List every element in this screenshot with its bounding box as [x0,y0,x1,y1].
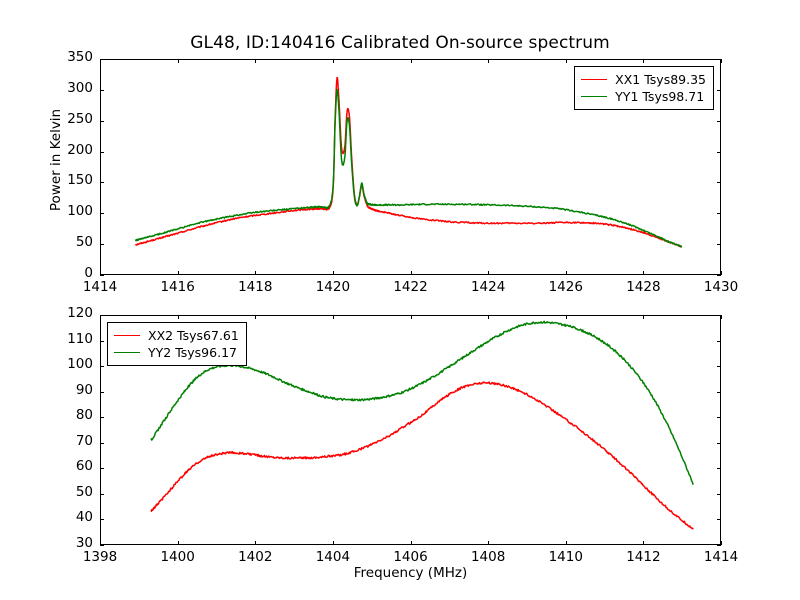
y-tick-mark [717,275,721,276]
x-tick-mark [643,541,644,545]
x-tick-mark [566,271,567,275]
y-tick-label: 250 [48,113,93,127]
y-tick-mark [100,213,104,214]
x-tick-mark [178,271,179,275]
x-tick-mark [333,59,334,63]
y-tick-mark [100,366,104,367]
y-tick-label: 150 [48,174,93,188]
legend-swatch-yy1 [581,96,607,97]
x-tick-mark [488,59,489,63]
y-tick-label: 200 [48,144,93,158]
figure-title: GL48, ID:140416 Calibrated On-source spe… [0,33,800,53]
legend-entry: YY1 Tsys98.71 [581,88,706,105]
x-tick-mark [721,271,722,275]
legend-swatch-yy2 [114,352,140,353]
y-tick-mark [717,213,721,214]
y-tick-mark [100,392,104,393]
y-tick-mark [100,443,104,444]
x-tick-label: 1426 [536,281,596,295]
x-tick-mark [178,541,179,545]
y-tick-mark [717,244,721,245]
legend-entry: YY2 Tsys96.17 [114,344,239,361]
x-tick-label: 1398 [70,551,130,565]
x-tick-label: 1402 [225,551,285,565]
y-tick-mark [100,341,104,342]
y-tick-mark [717,366,721,367]
y-tick-mark [100,244,104,245]
x-tick-label: 1424 [458,281,518,295]
y-tick-mark [100,519,104,520]
x-tick-mark [178,59,179,63]
x-tick-mark [566,315,567,319]
x-tick-mark [255,59,256,63]
x-tick-mark [411,315,412,319]
y-tick-label: 300 [48,82,93,96]
top-panel-legend: XX1 Tsys89.35 YY1 Tsys98.71 [574,66,714,110]
x-tick-mark [333,541,334,545]
legend-swatch-xx1 [581,79,607,80]
x-tick-mark [643,271,644,275]
y-tick-mark [717,468,721,469]
x-tick-mark [721,59,722,63]
y-tick-mark [717,494,721,495]
y-tick-mark [717,152,721,153]
y-tick-mark [717,341,721,342]
x-tick-mark [411,59,412,63]
x-tick-label: 1422 [381,281,441,295]
x-tick-mark [488,271,489,275]
x-tick-mark [333,271,334,275]
y-tick-mark [717,121,721,122]
x-tick-mark [100,315,101,319]
y-tick-mark [100,90,104,91]
y-tick-mark [717,443,721,444]
x-tick-mark [255,271,256,275]
y-tick-mark [717,519,721,520]
y-tick-label: 110 [48,333,93,347]
x-tick-mark [566,541,567,545]
y-tick-label: 120 [48,307,93,321]
legend-label-yy2: YY2 Tsys96.17 [148,345,237,360]
x-tick-label: 1412 [613,551,673,565]
bottom-panel-axes: XX2 Tsys67.61 YY2 Tsys96.17 [100,315,721,545]
y-tick-label: 50 [48,236,93,250]
x-tick-label: 1414 [70,281,130,295]
x-tick-label: 1418 [225,281,285,295]
x-tick-mark [721,315,722,319]
legend-entry: XX1 Tsys89.35 [581,71,706,88]
x-tick-mark [488,541,489,545]
x-tick-mark [100,541,101,545]
x-tick-label: 1420 [303,281,363,295]
trace-xx2 [151,382,693,529]
y-tick-mark [717,182,721,183]
bottom-panel-legend: XX2 Tsys67.61 YY2 Tsys96.17 [107,322,247,366]
spectrum-figure: GL48, ID:140416 Calibrated On-source spe… [0,0,800,600]
legend-label-yy1: YY1 Tsys98.71 [615,89,704,104]
y-tick-mark [100,468,104,469]
y-tick-label: 350 [48,51,93,65]
x-tick-label: 1416 [148,281,208,295]
y-tick-mark [717,392,721,393]
y-tick-mark [717,90,721,91]
x-tick-mark [566,59,567,63]
x-tick-mark [411,541,412,545]
y-tick-label: 90 [48,384,93,398]
y-tick-label: 100 [48,205,93,219]
x-tick-mark [333,315,334,319]
y-tick-mark [717,545,721,546]
x-tick-label: 1406 [381,551,441,565]
x-tick-mark [488,315,489,319]
x-tick-label: 1410 [536,551,596,565]
bottom-panel-x-axis-label: Frequency (MHz) [100,565,721,581]
x-tick-label: 1430 [691,281,751,295]
x-tick-mark [255,541,256,545]
x-tick-label: 1414 [691,551,751,565]
y-tick-label: 60 [48,460,93,474]
x-tick-mark [411,271,412,275]
y-tick-mark [100,182,104,183]
x-tick-mark [100,271,101,275]
y-tick-label: 100 [48,358,93,372]
x-tick-label: 1408 [458,551,518,565]
x-tick-mark [100,59,101,63]
y-tick-mark [100,275,104,276]
legend-swatch-xx2 [114,335,140,336]
x-tick-label: 1404 [303,551,363,565]
y-tick-label: 80 [48,409,93,423]
y-tick-label: 50 [48,486,93,500]
y-tick-mark [100,545,104,546]
legend-entry: XX2 Tsys67.61 [114,327,239,344]
top-panel-axes: XX1 Tsys89.35 YY1 Tsys98.71 [100,59,721,275]
x-tick-mark [721,541,722,545]
y-tick-label: 40 [48,511,93,525]
x-tick-label: 1400 [148,551,208,565]
x-tick-mark [255,315,256,319]
y-tick-mark [100,152,104,153]
legend-label-xx1: XX1 Tsys89.35 [615,72,706,87]
y-tick-mark [100,121,104,122]
y-tick-mark [100,417,104,418]
legend-label-xx2: XX2 Tsys67.61 [148,328,239,343]
y-tick-mark [717,417,721,418]
x-tick-mark [178,315,179,319]
x-tick-label: 1428 [613,281,673,295]
y-tick-label: 70 [48,435,93,449]
x-tick-mark [643,315,644,319]
y-tick-mark [100,494,104,495]
x-tick-mark [643,59,644,63]
